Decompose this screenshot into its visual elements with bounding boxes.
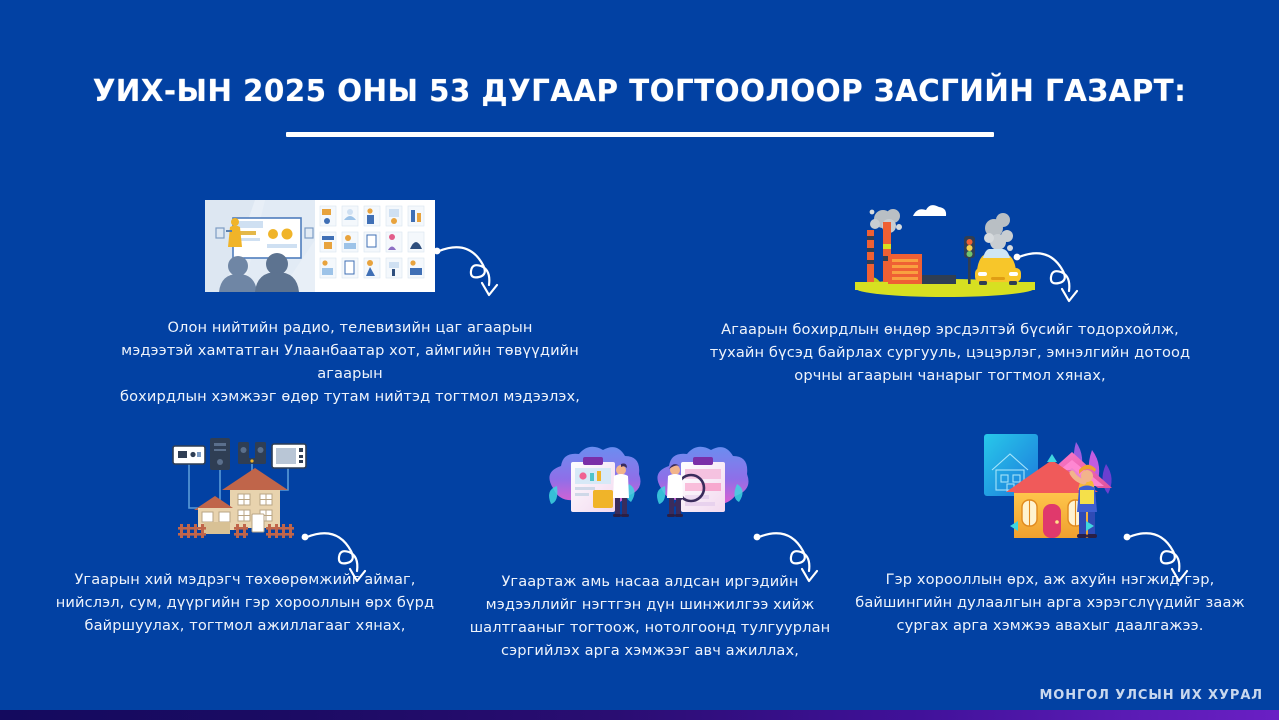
house-insulation-worker-illustration	[980, 430, 1125, 545]
item-caption: Гэр хорооллын өрх, аж ахуйн нэгжид гэр, …	[840, 568, 1260, 637]
clipboard-data-analysis-illustration	[535, 442, 750, 542]
factory-car-air-pollution-illustration	[855, 192, 1035, 297]
item-casualty-analysis: Угаартаж амь насаа алдсан иргэдийн мэдээ…	[450, 430, 850, 680]
title-underline-rule	[286, 132, 994, 137]
item-caption: Угаарын хий мэдрэгч төхөөрөмжийг аймаг, …	[40, 568, 450, 637]
slide-canvas: УИХ-ЫН 2025 ОНЫ 53 ДУГААР ТОГТООЛООР ЗАС…	[0, 0, 1279, 720]
item-insulation-training: Гэр хорооллын өрх, аж ахуйн нэгжид гэр, …	[840, 430, 1260, 670]
item-caption: Агаарын бохирдлын өндөр эрсдэлтэй бүсийг…	[690, 318, 1210, 387]
item-broadcast: Олон нийтийн радио, телевизийн цаг агаар…	[60, 190, 640, 400]
bottom-gradient-bar	[0, 710, 1279, 720]
item-co-detectors: Угаарын хий мэдрэгч төхөөрөмжийг аймаг, …	[30, 430, 460, 670]
page-title: УИХ-ЫН 2025 ОНЫ 53 ДУГААР ТОГТООЛООР ЗАС…	[22, 74, 1256, 109]
title-block: УИХ-ЫН 2025 ОНЫ 53 ДУГААР ТОГТООЛООР ЗАС…	[0, 74, 1279, 137]
item-caption: Угаартаж амь насаа алдсан иргэдийн мэдээ…	[450, 570, 850, 662]
tv-broadcast-weather-report-illustration	[205, 200, 435, 292]
footer-organization-label: МОНГОЛ УЛСЫН ИХ ХУРАЛ	[1039, 688, 1263, 703]
smart-home-connected-devices-illustration	[160, 430, 335, 542]
item-air-pollution-zones: Агаарын бохирдлын өндөр эрсдэлтэй бүсийг…	[660, 190, 1240, 400]
item-caption: Олон нийтийн радио, телевизийн цаг агаар…	[90, 316, 610, 408]
